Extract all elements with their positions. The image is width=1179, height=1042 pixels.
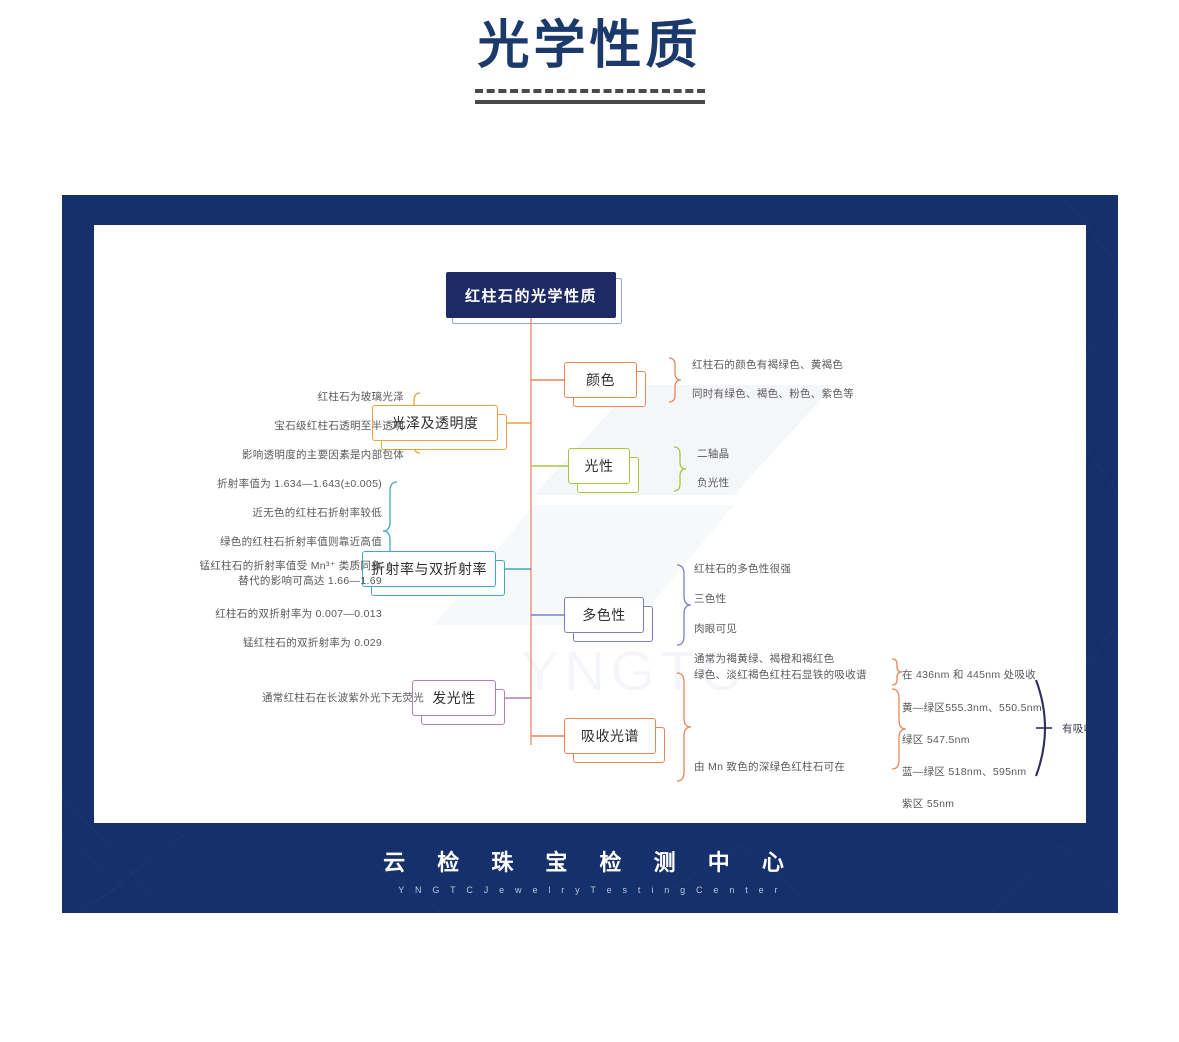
leaf-refractive-1: 折射率值为 1.634—1.643(±0.005)	[114, 477, 382, 492]
leaf-absorption-band-note: 有吸收带	[1062, 722, 1086, 737]
mindmap-canvas: YNGTC	[94, 225, 1086, 823]
leaf-optic-2: 负光性	[697, 476, 729, 491]
leaf-absorption-2: 由 Mn 致色的深绿色红柱石可在	[694, 760, 845, 775]
mindmap: 红柱石的光学性质 颜色 光性 多色性 吸收光谱	[94, 225, 1086, 823]
leaf-absorption-mn-2: 绿区 547.5nm	[902, 733, 970, 748]
leaf-absorption-mn-1: 黄—绿区555.3nm、550.5nm	[902, 701, 1042, 716]
branch-node-color[interactable]: 颜色	[564, 362, 637, 398]
branch-node-refractive-index[interactable]: 折射率与双折射率	[362, 551, 496, 587]
footer: 云 检 珠 宝 检 测 中 心 Y N G T C J e w e l r y …	[62, 849, 1118, 895]
branch-node-absorption-wrapper: 吸收光谱	[564, 718, 656, 754]
mindmap-board: YNGTC	[62, 195, 1118, 913]
title-solid-rule	[475, 100, 705, 104]
leaf-luster-3: 影响透明度的主要因素是内部包体	[144, 448, 404, 463]
leaf-pleochroism-4: 通常为褐黄绿、褐橙和褐红色	[694, 652, 834, 667]
leaf-color-1: 红柱石的颜色有褐绿色、黄褐色	[692, 358, 843, 373]
leaf-luminescence-1: 通常红柱石在长波紫外光下无荧光	[174, 691, 424, 706]
leaf-luster-2: 宝石级红柱石透明至半透明	[144, 419, 404, 434]
branch-node-refractive-index-wrapper: 折射率与双折射率	[362, 551, 496, 587]
branch-node-pleochroism-wrapper: 多色性	[564, 597, 644, 633]
leaf-refractive-6: 锰红柱石的双折射率为 0.029	[114, 636, 382, 651]
root-node[interactable]: 红柱石的光学性质	[446, 272, 616, 318]
leaf-refractive-2: 近无色的红柱石折射率较低	[114, 506, 382, 521]
branch-node-absorption[interactable]: 吸收光谱	[564, 718, 656, 754]
leaf-luster-1: 红柱石为玻璃光泽	[144, 390, 404, 405]
leaf-absorption-iron-1: 在 436nm 和 445nm 处吸收	[902, 668, 1036, 683]
branch-node-luminescence-wrapper: 发光性	[412, 680, 496, 716]
leaf-absorption-mn-4: 紫区 55nm	[902, 797, 954, 812]
page-title: 光学性质	[0, 18, 1179, 75]
branch-node-color-wrapper: 颜色	[564, 362, 637, 398]
root-node-wrapper: 红柱石的光学性质	[446, 272, 616, 318]
leaf-absorption-mn-3: 蓝—绿区 518nm、595nm	[902, 765, 1026, 780]
leaf-optic-1: 二轴晶	[697, 447, 729, 462]
leaf-absorption-1: 绿色、淡红褐色红柱石显铁的吸收谱	[694, 668, 867, 683]
leaf-pleochroism-2: 三色性	[694, 592, 726, 607]
leaf-refractive-4: 锰红柱石的折射率值受 Mn³⁺ 类质同象 替代的影响可高达 1.66—1.69	[114, 559, 382, 589]
leaf-color-2: 同时有绿色、褐色、粉色、紫色等	[692, 387, 854, 402]
footer-title-cn: 云 检 珠 宝 检 测 中 心	[62, 849, 1118, 878]
footer-title-en: Y N G T C J e w e l r y T e s t i n g C …	[62, 885, 1118, 895]
branch-node-optic[interactable]: 光性	[568, 448, 630, 484]
branch-node-optic-wrapper: 光性	[568, 448, 630, 484]
leaf-pleochroism-3: 肉眼可见	[694, 622, 737, 637]
branch-node-luminescence[interactable]: 发光性	[412, 680, 496, 716]
title-dashed-rule	[475, 89, 705, 93]
leaf-refractive-5: 红柱石的双折射率为 0.007—0.013	[114, 607, 382, 622]
leaf-refractive-3: 绿色的红柱石折射率值则靠近高值	[114, 535, 382, 550]
leaf-pleochroism-1: 红柱石的多色性很强	[694, 562, 791, 577]
page-title-block: 光学性质	[0, 18, 1179, 104]
branch-node-pleochroism[interactable]: 多色性	[564, 597, 644, 633]
